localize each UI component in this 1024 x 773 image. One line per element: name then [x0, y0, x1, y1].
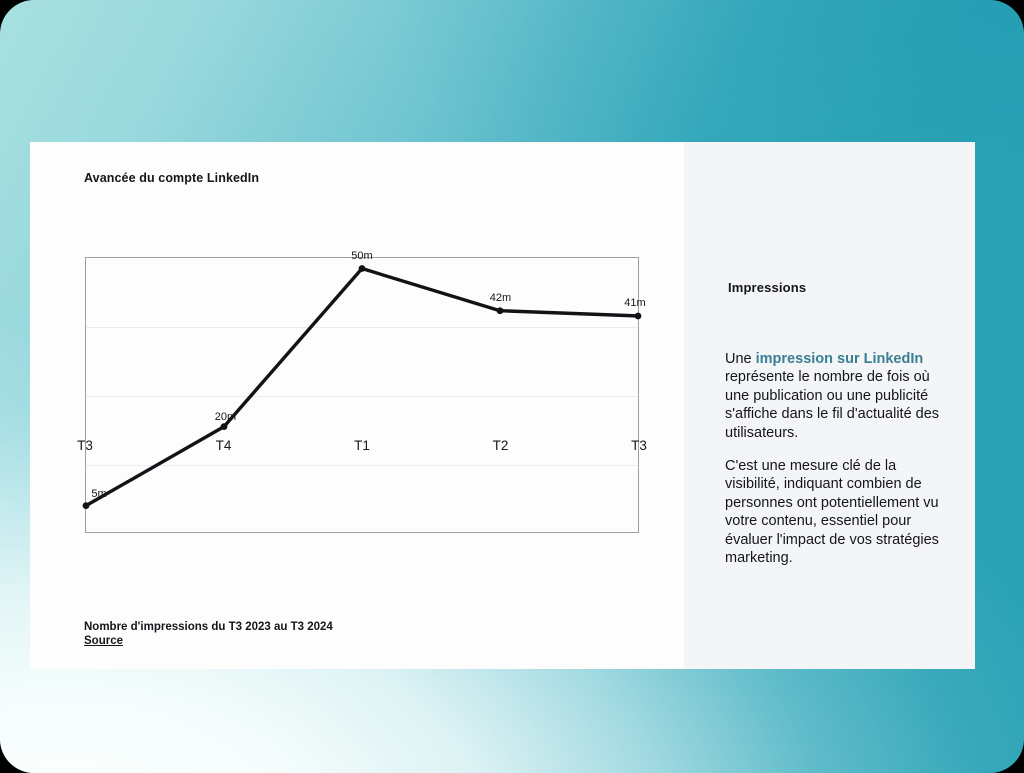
x-axis-tick-label: T3: [77, 438, 93, 453]
panel-paragraph-2: C'est une mesure clé de la visibilité, i…: [725, 457, 951, 567]
paragraph-1-rest: représente le nombre de fois où une publ…: [725, 369, 939, 440]
paragraph-1-lead: Une: [725, 351, 756, 367]
chart-pane: Avancée du compte LinkedIn 5m20m50m42m41…: [30, 142, 684, 669]
paragraph-1-accent: impression sur LinkedIn: [756, 351, 924, 367]
panel-paragraph-1: Une impression sur LinkedIn représente l…: [725, 350, 951, 442]
data-point-label: 42m: [490, 292, 511, 304]
data-point-label: 50m: [351, 250, 372, 262]
data-point-label: 41m: [624, 297, 645, 309]
description-pane: Impressions Une impression sur LinkedIn …: [684, 142, 975, 669]
footer-caption: Nombre d'impressions du T3 2023 au T3 20…: [84, 621, 333, 635]
chart-title: Avancée du compte LinkedIn: [84, 171, 259, 185]
source-link[interactable]: Source: [84, 635, 123, 649]
chart-footer: Nombre d'impressions du T3 2023 au T3 20…: [84, 621, 333, 648]
chart-series: [86, 258, 638, 532]
panel-body: Une impression sur LinkedIn représente l…: [725, 350, 951, 567]
data-point-label: 20m: [215, 411, 236, 423]
chart-plot-area: [85, 257, 639, 533]
x-axis-tick-label: T3: [631, 438, 647, 453]
x-axis-tick-label: T1: [354, 438, 370, 453]
panel-heading: Impressions: [728, 280, 806, 295]
slide-card: Avancée du compte LinkedIn 5m20m50m42m41…: [30, 142, 975, 669]
x-axis-tick-label: T4: [216, 438, 232, 453]
data-point-label: 5m: [91, 488, 106, 500]
x-axis-tick-label: T2: [493, 438, 509, 453]
